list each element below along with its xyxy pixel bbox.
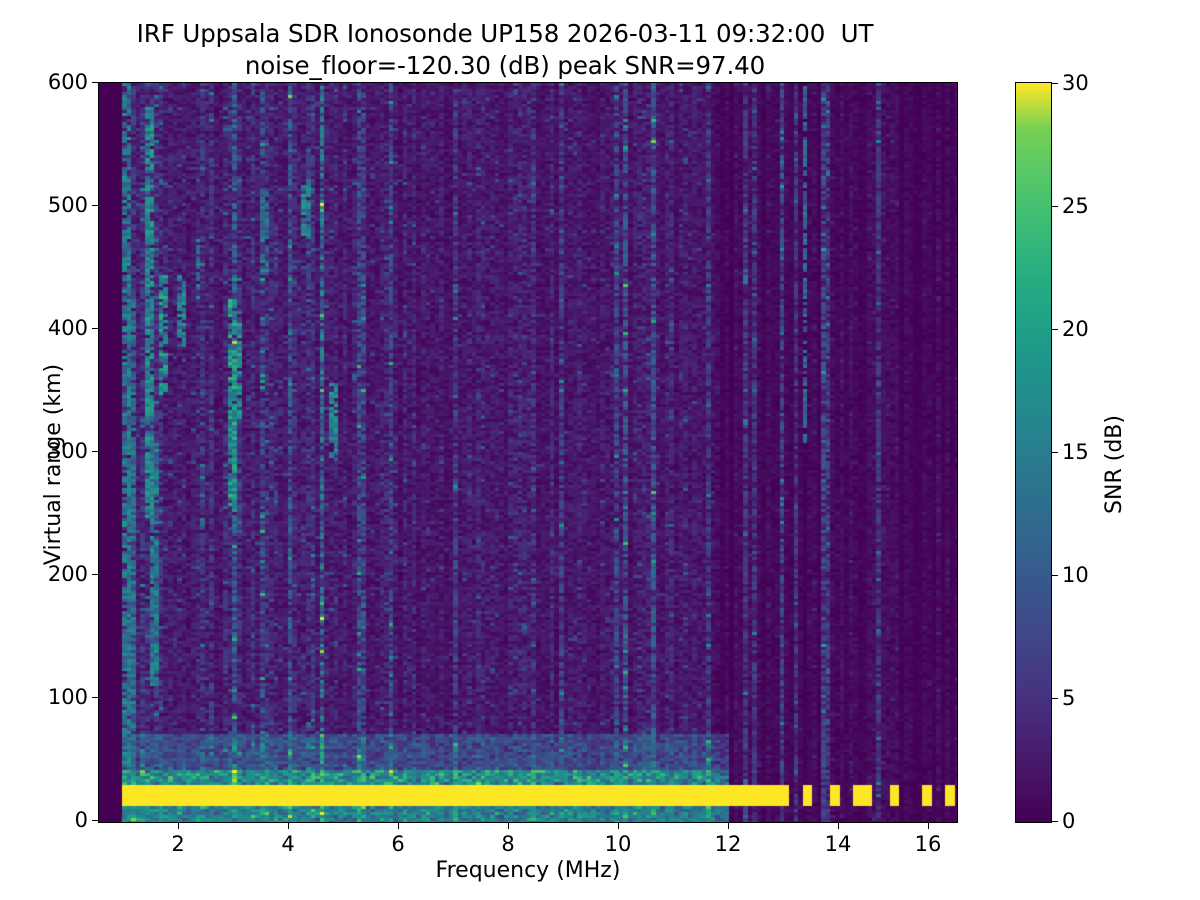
cbtick-label-30: 30 xyxy=(1062,71,1089,95)
xtick-mark-6 xyxy=(398,823,399,829)
ytick-mark-300 xyxy=(92,451,98,452)
xtick-mark-14 xyxy=(838,823,839,829)
cbtick-label-20: 20 xyxy=(1062,317,1089,341)
xtick-label-10: 10 xyxy=(578,832,658,856)
colorbar xyxy=(1015,82,1052,823)
cbtick-mark-0 xyxy=(1052,821,1058,822)
xtick-label-8: 8 xyxy=(468,832,548,856)
xtick-mark-10 xyxy=(618,823,619,829)
cbtick-label-25: 25 xyxy=(1062,194,1089,218)
cbtick-mark-25 xyxy=(1052,206,1058,207)
xtick-label-16: 16 xyxy=(888,832,968,856)
xtick-mark-16 xyxy=(928,823,929,829)
ionogram-heatmap xyxy=(99,83,958,823)
cbtick-label-10: 10 xyxy=(1062,563,1089,587)
figure-title: IRF Uppsala SDR Ionosonde UP158 2026-03-… xyxy=(0,18,1010,82)
ytick-mark-100 xyxy=(92,697,98,698)
cbtick-label-0: 0 xyxy=(1062,809,1075,833)
xtick-mark-2 xyxy=(178,823,179,829)
cbtick-mark-20 xyxy=(1052,329,1058,330)
xtick-label-2: 2 xyxy=(138,832,218,856)
title-line-2: noise_floor=-120.30 (dB) peak SNR=97.40 xyxy=(0,50,1010,82)
cbtick-mark-10 xyxy=(1052,575,1058,576)
ytick-mark-500 xyxy=(92,205,98,206)
cbtick-mark-15 xyxy=(1052,452,1058,453)
xtick-label-6: 6 xyxy=(358,832,438,856)
ionogram-figure: IRF Uppsala SDR Ionosonde UP158 2026-03-… xyxy=(0,0,1200,900)
xtick-mark-8 xyxy=(508,823,509,829)
ytick-mark-600 xyxy=(92,82,98,83)
ytick-mark-200 xyxy=(92,574,98,575)
xtick-label-4: 4 xyxy=(248,832,328,856)
xtick-label-14: 14 xyxy=(798,832,878,856)
plot-area xyxy=(98,82,958,823)
xtick-mark-12 xyxy=(728,823,729,829)
colorbar-label: SNR (dB) xyxy=(1102,94,1127,835)
xtick-mark-4 xyxy=(288,823,289,829)
ytick-mark-0 xyxy=(92,820,98,821)
cbtick-mark-30 xyxy=(1052,83,1058,84)
y-axis-label: Virtual range (km) xyxy=(41,94,66,835)
cbtick-mark-5 xyxy=(1052,698,1058,699)
title-line-1: IRF Uppsala SDR Ionosonde UP158 2026-03-… xyxy=(0,18,1010,50)
ytick-label-600: 600 xyxy=(48,70,88,94)
cbtick-label-5: 5 xyxy=(1062,686,1075,710)
x-axis-label: Frequency (MHz) xyxy=(98,858,958,883)
cbtick-label-15: 15 xyxy=(1062,440,1089,464)
ytick-label-0: 0 xyxy=(75,808,88,832)
xtick-label-12: 12 xyxy=(688,832,768,856)
ytick-mark-400 xyxy=(92,328,98,329)
